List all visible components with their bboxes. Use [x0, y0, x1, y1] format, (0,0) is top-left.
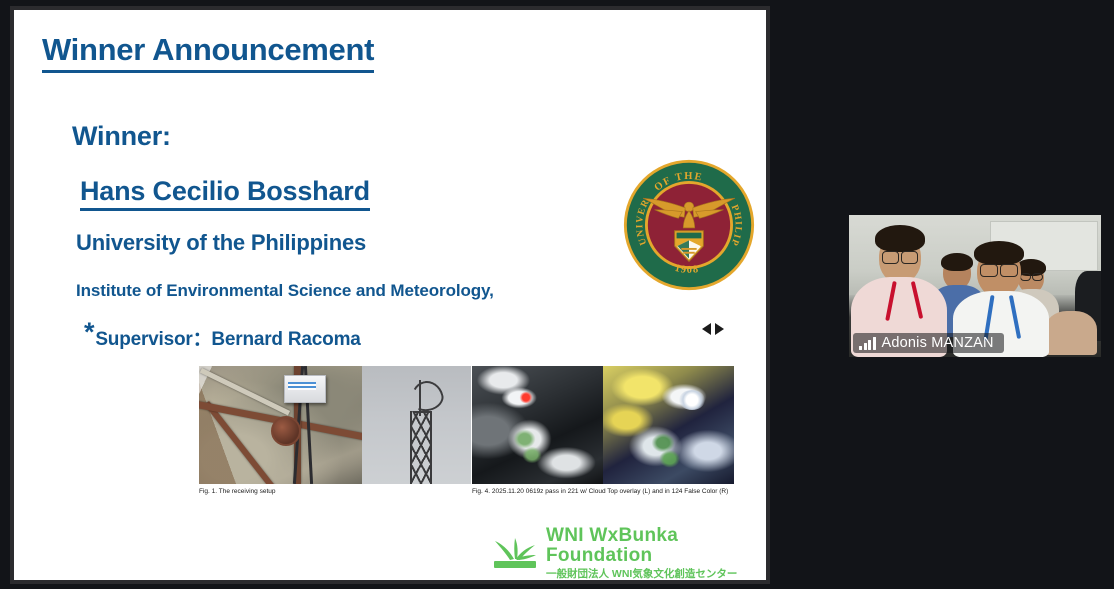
figure-photo-row — [199, 366, 471, 484]
participant-name: Adonis MANZAN — [882, 335, 994, 351]
slide-navigation[interactable] — [702, 323, 724, 335]
wni-logo-text: WNI WxBunka Foundation 一般財団法人 WNI気象文化創造セ… — [546, 526, 766, 580]
receiver-box — [284, 375, 326, 403]
supervisor-line: * Supervisor：Bernard Racoma — [84, 320, 361, 351]
photo-satellite-false-color — [603, 366, 734, 484]
asterisk-marker: * — [84, 320, 94, 344]
grass-sprout-icon — [492, 536, 538, 570]
page-title: Winner Announcement — [42, 34, 374, 73]
figure-receiving-setup: Fig. 1. The receiving setup — [199, 366, 471, 495]
wni-logo-japanese: 一般財団法人 WNI気象文化創造センター — [546, 568, 766, 580]
supervisor-text: Supervisor：Bernard Racoma — [95, 320, 360, 351]
photo-receiving-setup-closeup — [199, 366, 362, 484]
triangle-left-icon[interactable] — [702, 323, 711, 335]
photo-antenna-mast — [362, 366, 471, 484]
participant-name-plate: Adonis MANZAN — [853, 333, 1004, 353]
triangle-right-icon[interactable] — [715, 323, 724, 335]
figure-satellite-passes: Fig. 4. 2025.11.20 0619z pass in 221 w/ … — [472, 366, 734, 495]
shared-screen-frame[interactable]: Winner Announcement Winner: Hans Cecilio… — [10, 6, 770, 584]
winner-institute: Institute of Environmental Science and M… — [76, 281, 494, 301]
winner-label: Winner: — [72, 121, 171, 152]
participant-video-tile[interactable]: Adonis MANZAN — [849, 215, 1101, 357]
presentation-slide[interactable]: Winner Announcement Winner: Hans Cecilio… — [14, 10, 766, 580]
wni-foundation-logo: WNI WxBunka Foundation 一般財団法人 WNI気象文化創造セ… — [492, 526, 766, 580]
meeting-stage: Winner Announcement Winner: Hans Cecilio… — [0, 0, 1114, 589]
winner-name: Hans Cecilio Bosshard — [80, 176, 370, 211]
figure-caption: Fig. 4. 2025.11.20 0619z pass in 221 w/ … — [472, 484, 734, 495]
university-seal: OF THE 1908 UNIVERSITY PHILIPPINES — [622, 158, 756, 292]
winner-affiliation: University of the Philippines — [76, 230, 366, 256]
figure-caption: Fig. 1. The receiving setup — [199, 484, 471, 495]
signal-bars-icon — [859, 337, 876, 350]
photo-satellite-ir-cloudtop — [472, 366, 603, 484]
figure-photo-row — [472, 366, 734, 484]
wni-logo-english: WNI WxBunka Foundation — [546, 526, 766, 566]
